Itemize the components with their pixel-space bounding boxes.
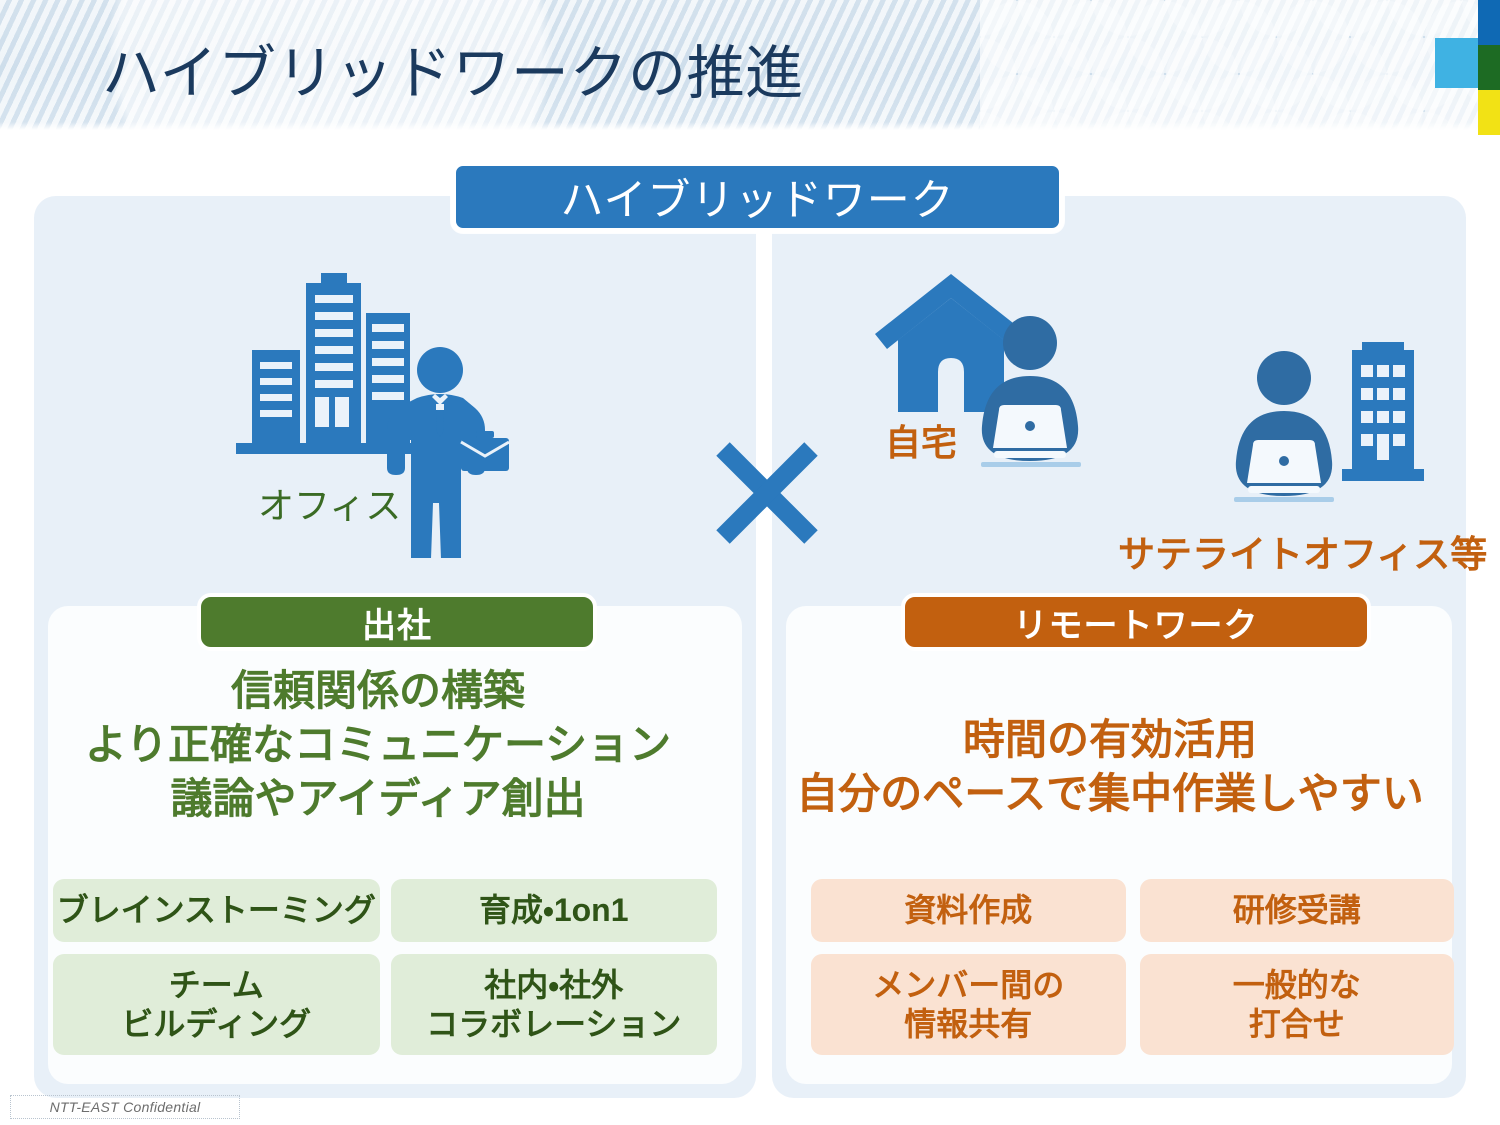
logo-block-green — [1478, 45, 1500, 90]
logo-block-yellow — [1478, 90, 1500, 135]
cross-multiply-icon — [711, 437, 823, 549]
office-tag: 育成・1on1 — [391, 879, 718, 942]
remote-section-badge: リモートワーク — [901, 593, 1371, 651]
remote-tag: メンバー間の 情報共有 — [811, 954, 1126, 1055]
person-laptop-building-icon — [1222, 330, 1442, 525]
office-tag: チーム ビルディング — [53, 954, 380, 1055]
satellite-icon-label: サテライトオフィス等 — [1118, 524, 1487, 578]
remote-tag-grid: 資料作成 研修受講 メンバー間の 情報共有 一般的な 打合せ — [811, 879, 1454, 1055]
office-section-badge: 出社 — [197, 593, 597, 651]
office-lead-text: 信頼関係の構築 より正確なコミュニケーション 議論やアイディア創出 — [48, 664, 708, 825]
remote-tag: 一般的な 打合せ — [1140, 954, 1455, 1055]
office-tag-grid: ブレインストーミング 育成・1on1 チーム ビルディング 社内・社外 コラボレ… — [53, 879, 717, 1055]
page-title: ハイブリッドワークの推進 — [102, 26, 804, 110]
office-tag: 社内・社外 コラボレーション — [391, 954, 718, 1055]
confidential-footer: NTT-EAST Confidential — [10, 1095, 240, 1119]
logo-block-navy — [1478, 0, 1500, 45]
logo-block-cyan — [1435, 38, 1478, 88]
home-icon-label: 自宅 — [885, 414, 957, 466]
hybrid-work-badge: ハイブリッドワーク — [451, 161, 1064, 233]
office-tag: ブレインストーミング — [53, 879, 380, 942]
remote-tag: 研修受講 — [1140, 879, 1455, 942]
remote-tag: 資料作成 — [811, 879, 1126, 942]
remote-lead-text: 時間の有効活用 自分のペースで集中作業しやすい — [790, 713, 1430, 821]
slide-root: ハイブリッドワークの推進 — [0, 0, 1500, 1125]
office-icon-label: オフィス — [258, 477, 401, 529]
logo-color-blocks — [1400, 0, 1500, 135]
